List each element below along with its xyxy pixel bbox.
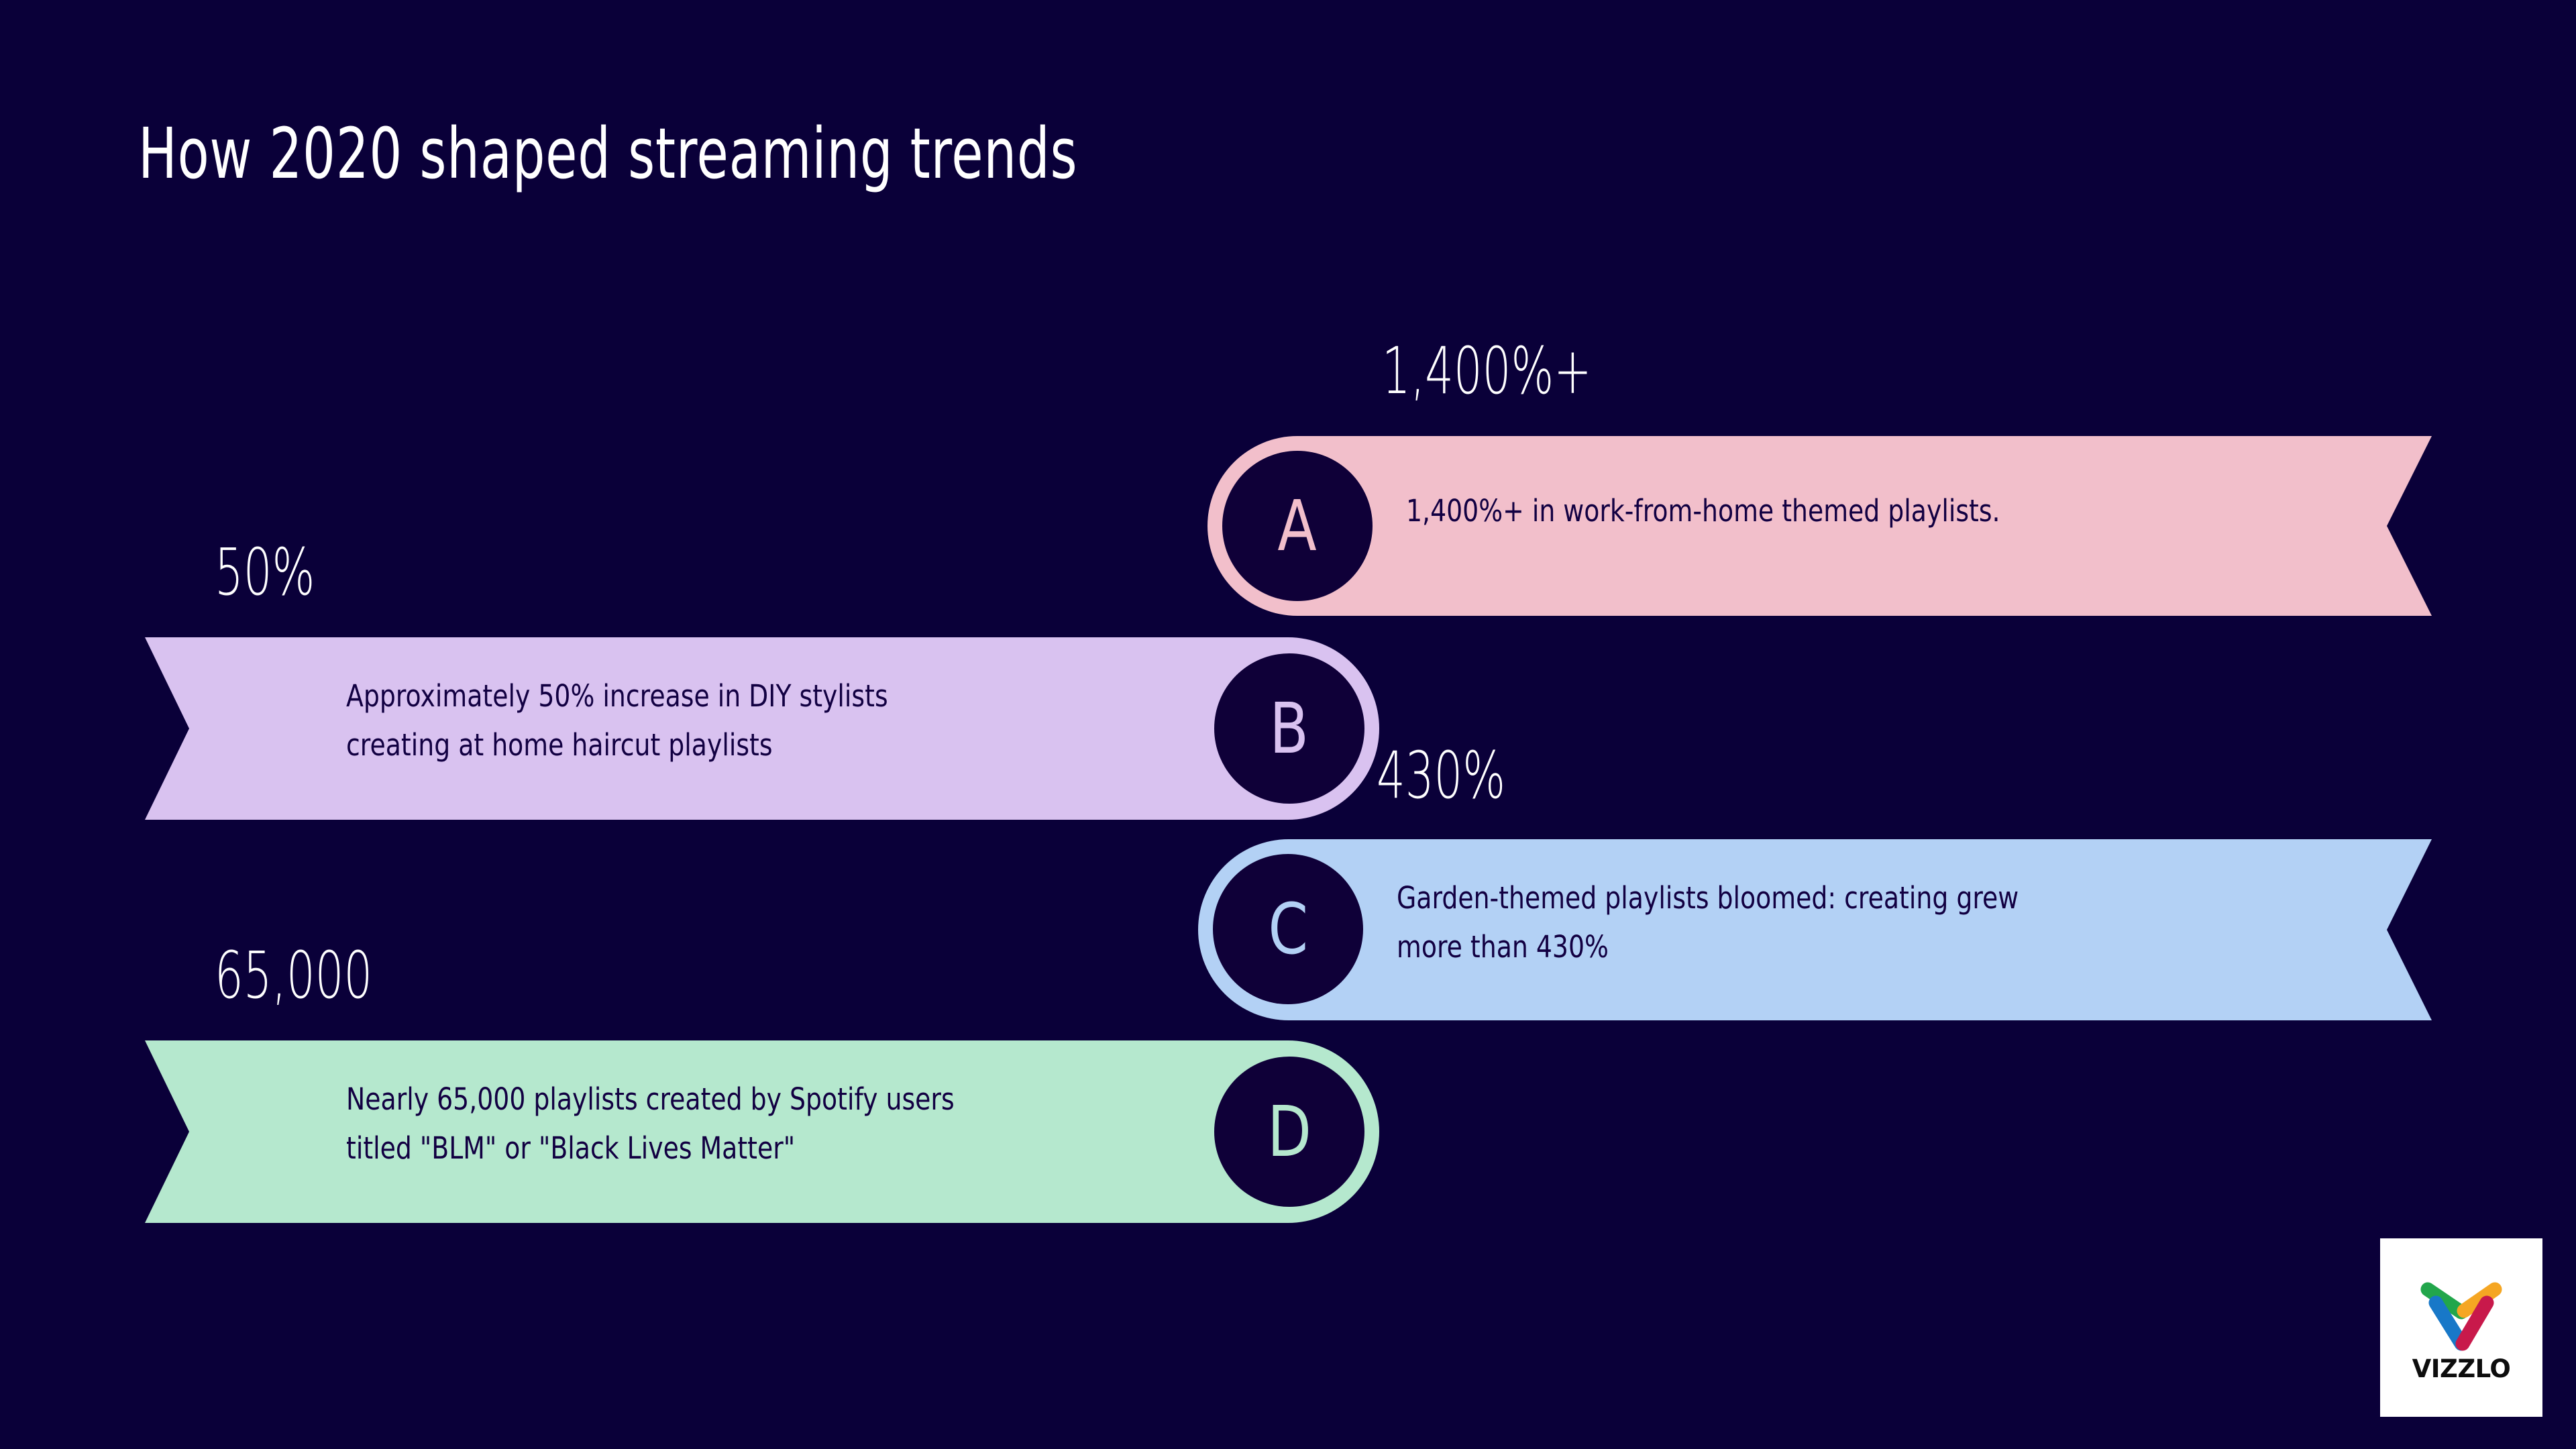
badge-letter-c: C: [1268, 894, 1308, 964]
row-label-a: 1,400%+: [1382, 333, 1592, 409]
vizzlo-checkmark-icon: [2419, 1275, 2504, 1352]
row-text-b: Approximately 50% increase in DIY stylis…: [346, 672, 888, 770]
infographic-canvas: How 2020 shaped streaming trends 1,400%+…: [0, 0, 2576, 1449]
row-text-c: Garden-themed playlists bloomed: creatin…: [1397, 874, 2019, 972]
row-a[interactable]: A 1,400%+ in work-from-home themed playl…: [1207, 436, 2432, 616]
page-title: How 2020 shaped streaming trends: [138, 113, 1077, 195]
vizzlo-wordmark: VIZZLO: [2412, 1356, 2511, 1381]
badge-letter-a: A: [1278, 491, 1317, 561]
row-c[interactable]: C Garden-themed playlists bloomed: creat…: [1198, 839, 2432, 1020]
badge-d: D: [1214, 1057, 1364, 1207]
row-label-d: 65,000: [215, 938, 372, 1013]
row-text-d: Nearly 65,000 playlists created by Spoti…: [346, 1075, 955, 1173]
row-b[interactable]: B Approximately 50% increase in DIY styl…: [145, 637, 1379, 820]
badge-letter-b: B: [1270, 694, 1309, 763]
badge-b: B: [1214, 653, 1364, 804]
badge-letter-d: D: [1267, 1097, 1311, 1167]
row-text-a: 1,400%+ in work-from-home themed playlis…: [1406, 487, 2000, 536]
badge-a: A: [1222, 451, 1373, 601]
row-label-b: 50%: [215, 535, 315, 610]
row-label-c: 430%: [1377, 738, 1505, 813]
row-d[interactable]: D Nearly 65,000 playlists created by Spo…: [145, 1040, 1379, 1223]
vizzlo-logo[interactable]: VIZZLO: [2380, 1238, 2542, 1417]
badge-c: C: [1213, 854, 1363, 1004]
